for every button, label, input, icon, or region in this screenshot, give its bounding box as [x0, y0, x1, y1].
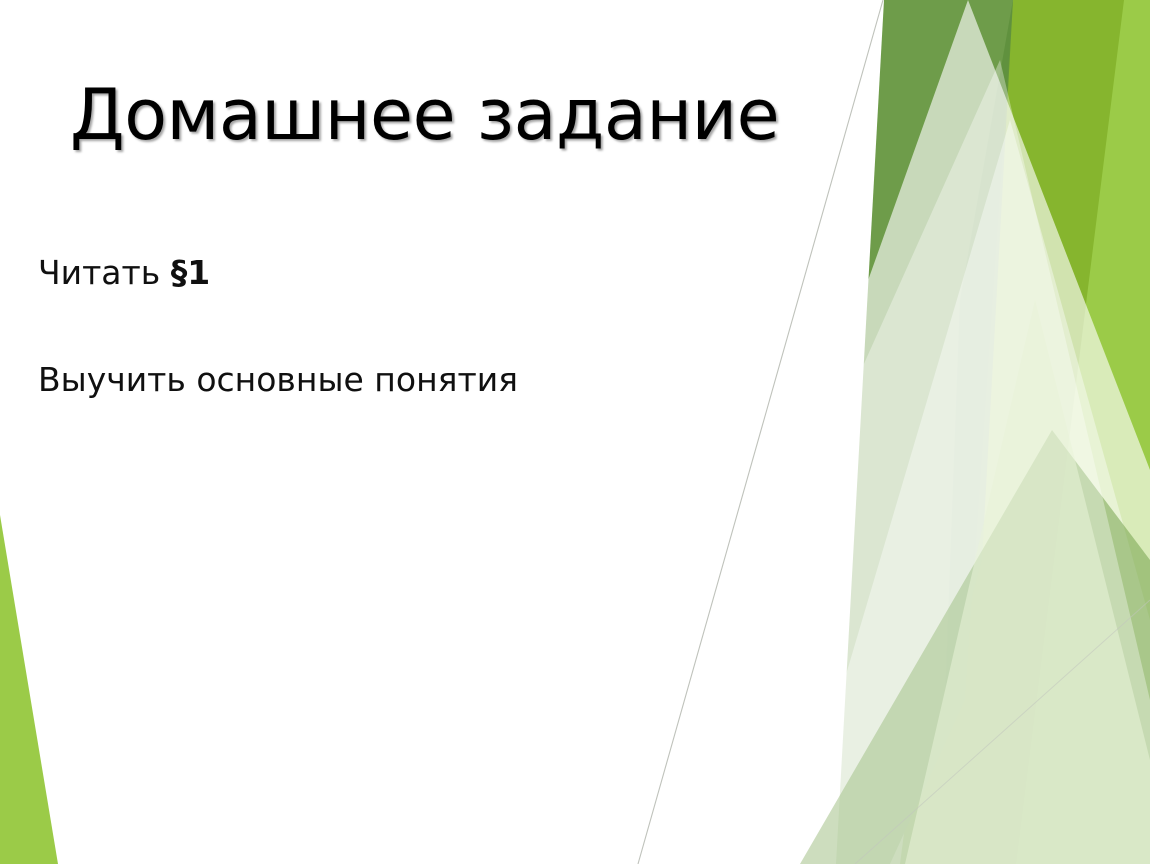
pale-overlay-lower: [905, 300, 1150, 864]
list-item: Читать §1: [38, 252, 838, 293]
bright-green-column: [900, 0, 1124, 864]
slide-canvas: Домашнее задание Читать §1 Выучить основ…: [0, 0, 1150, 864]
slide-content: Домашнее задание Читать §1 Выучить основ…: [0, 0, 880, 864]
body-text-list: Читать §1 Выучить основные понятия: [38, 252, 838, 401]
deep-green-wedge: [945, 0, 1013, 700]
list-item: Выучить основные понятия: [38, 359, 838, 400]
list-item-text: Читать: [38, 253, 171, 292]
list-item-emphasis: §1: [171, 253, 210, 292]
list-item-text: Выучить основные понятия: [38, 360, 518, 399]
right-light-band: [1010, 0, 1150, 864]
hairline-secondary: [855, 600, 1150, 864]
page-title: Домашнее задание: [70, 78, 870, 152]
